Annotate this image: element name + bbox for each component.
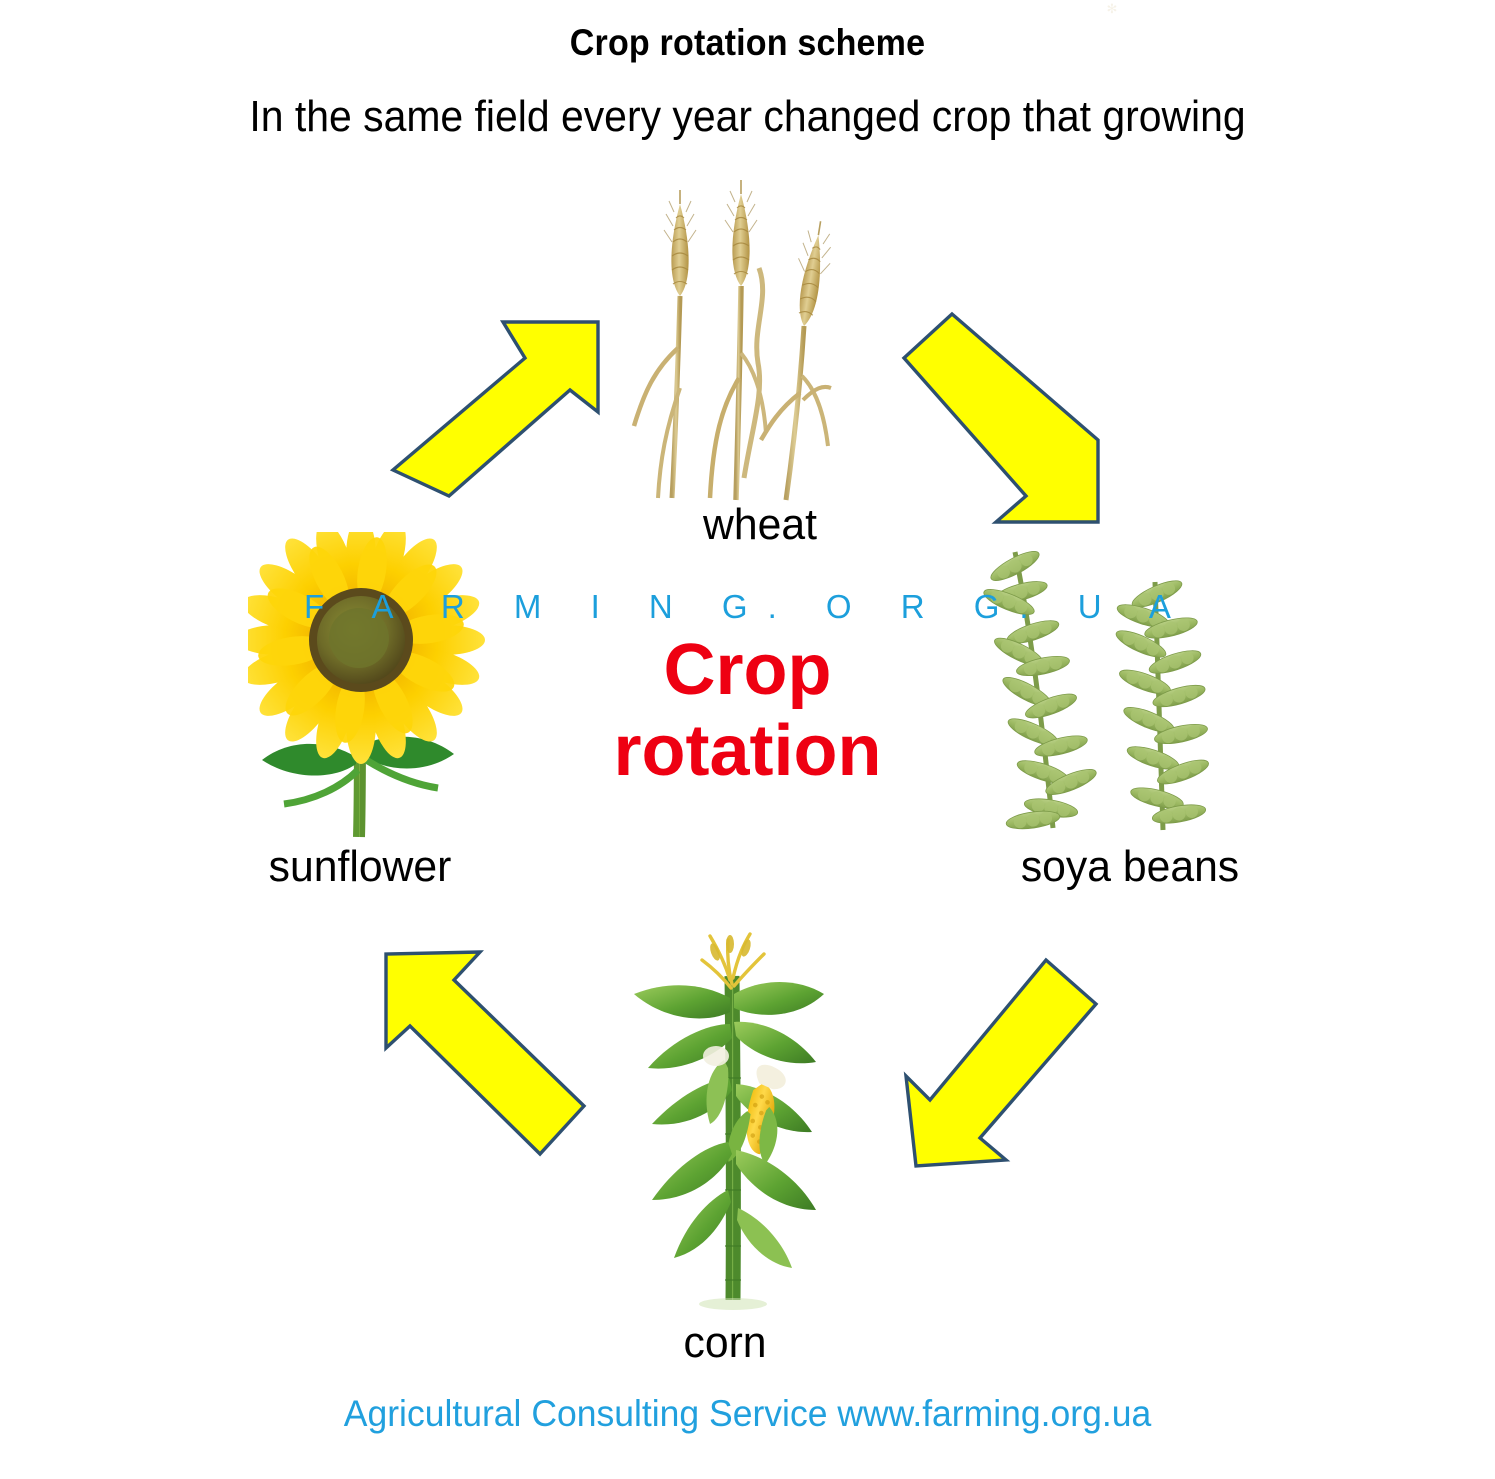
arrow-sunflower-to-wheat <box>388 300 620 505</box>
center-crop-rotation-label: Crop rotation <box>0 630 1495 791</box>
sunflower-label: sunflower <box>166 842 554 892</box>
soya-beans-label: soya beans <box>936 842 1324 892</box>
site-watermark: F A R M I N G. O R G. U A <box>0 588 1495 626</box>
corn-image <box>612 928 877 1318</box>
page-subtitle: In the same field every year changed cro… <box>52 92 1442 142</box>
center-label-line2: rotation <box>0 711 1495 792</box>
arrow-corn-to-sunflower <box>368 938 613 1183</box>
crop-rotation-diagram: Crop rotation scheme In the same field e… <box>0 0 1495 1479</box>
footer-credit: Agricultural Consulting Service www.farm… <box>30 1393 1465 1435</box>
center-label-line1: Crop <box>0 630 1495 711</box>
page-title: Crop rotation scheme <box>60 22 1435 64</box>
corn-label: corn <box>531 1318 919 1368</box>
wheat-image <box>618 178 878 503</box>
wheat-label: wheat <box>566 500 954 550</box>
arrow-soya-to-corn <box>888 938 1140 1190</box>
scan-artifact: ✻ <box>1104 2 1120 16</box>
arrow-wheat-to-soya <box>898 300 1130 532</box>
